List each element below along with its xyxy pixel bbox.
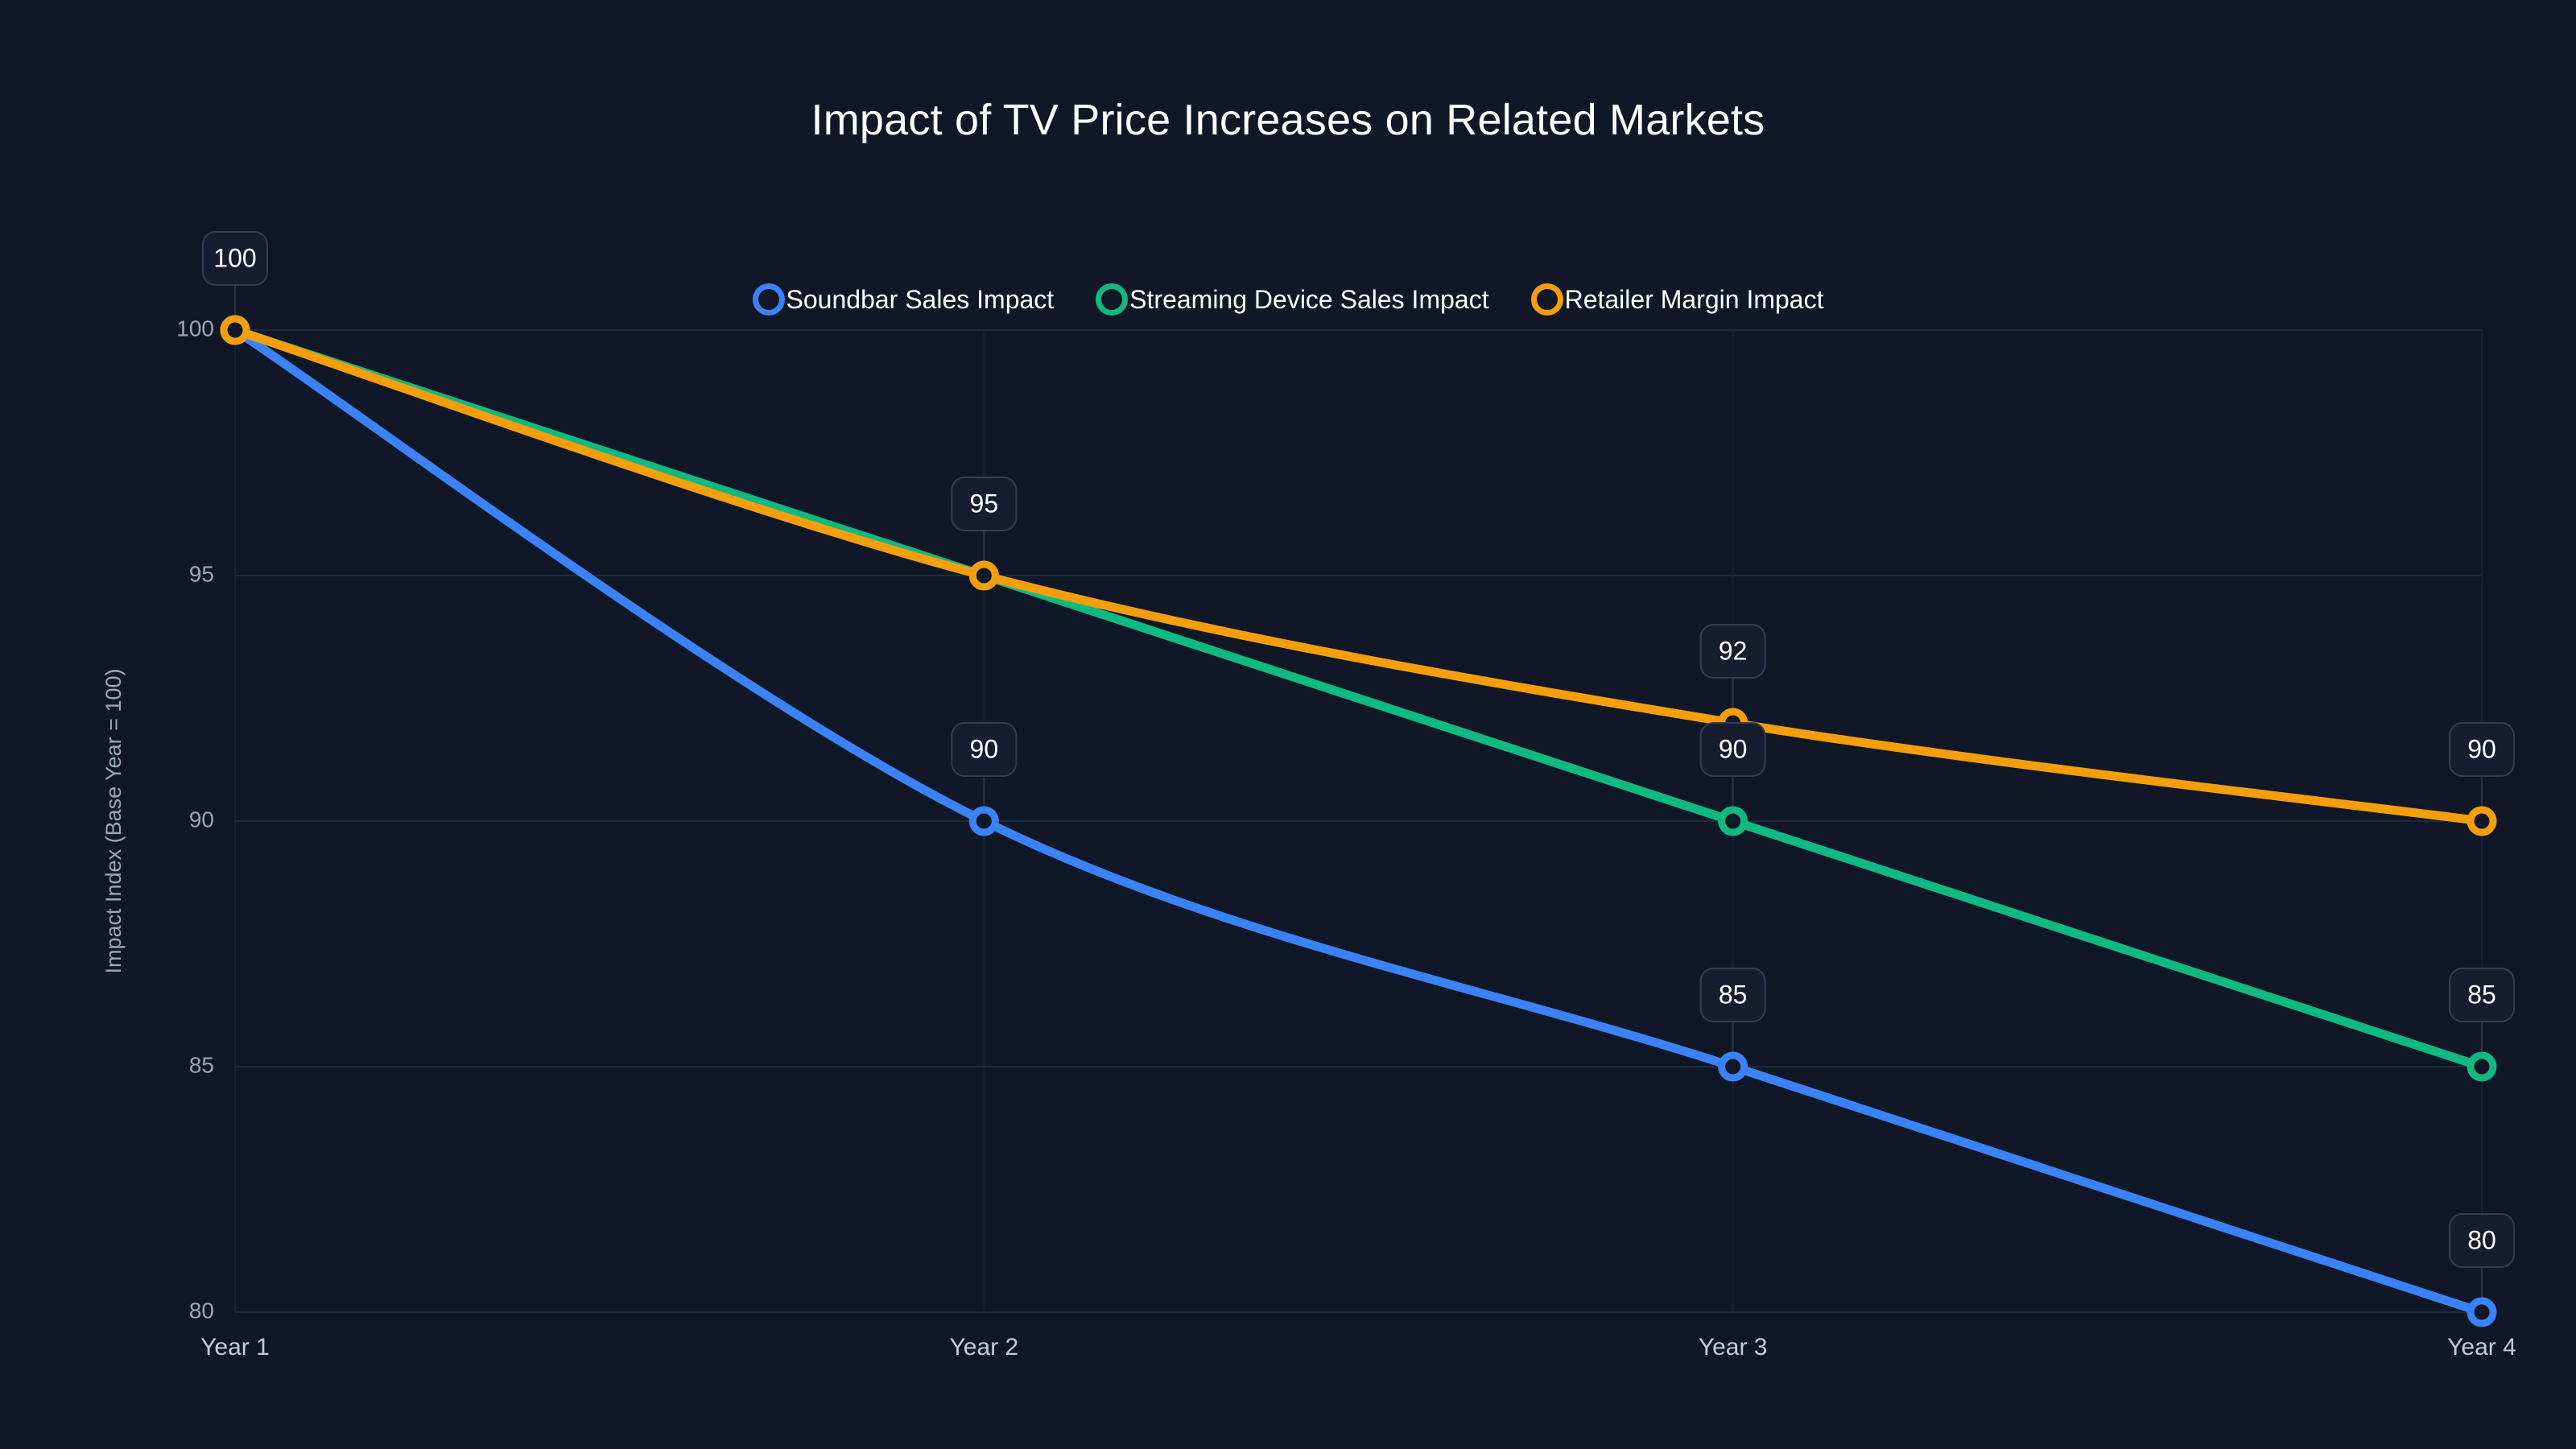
y-tick-label: 85 <box>189 1052 214 1077</box>
series-data-point[interactable] <box>224 319 246 341</box>
data-label: 95 <box>952 477 1016 530</box>
data-label: 80 <box>2450 1214 2514 1267</box>
series-data-point[interactable] <box>972 810 995 832</box>
y-tick-label: 95 <box>189 561 214 586</box>
x-tick-label: Year 3 <box>1699 1334 1768 1360</box>
series-data-point[interactable] <box>2471 1055 2493 1078</box>
y-axis-title: Impact Index (Base Year = 100) <box>101 669 126 974</box>
data-label-text: 95 <box>970 489 999 518</box>
x-axis-ticks: Year 1Year 2Year 3Year 4 <box>200 1334 2516 1360</box>
series-data-point[interactable] <box>1722 1055 1744 1078</box>
y-tick-label: 80 <box>189 1298 214 1323</box>
series-data-point[interactable] <box>2471 810 2493 832</box>
series-data-point[interactable] <box>2471 1301 2493 1323</box>
data-label-text: 90 <box>2467 734 2496 763</box>
x-tick-label: Year 2 <box>950 1334 1019 1360</box>
x-tick-label: Year 1 <box>200 1334 270 1360</box>
data-label: 90 <box>952 723 1016 776</box>
data-label-text: 85 <box>1719 980 1748 1009</box>
series-data-point[interactable] <box>972 564 995 587</box>
data-label: 92 <box>1701 625 1765 678</box>
data-labels: 1009085809590859290 <box>203 232 2514 1267</box>
data-label: 90 <box>2450 723 2514 776</box>
data-label-text: 92 <box>1719 636 1748 665</box>
chart-container: Impact of TV Price Increases on Related … <box>0 0 2576 1449</box>
data-label-text: 100 <box>213 243 256 272</box>
plot-area: 80859095100 Year 1Year 2Year 3Year 4 Imp… <box>0 0 2576 1449</box>
y-axis-ticks: 80859095100 <box>176 316 214 1323</box>
data-label-text: 85 <box>2467 980 2496 1009</box>
data-label: 90 <box>1701 723 1765 776</box>
label-leader-lines <box>235 232 2482 1312</box>
y-axis-title-text: Impact Index (Base Year = 100) <box>101 669 126 974</box>
data-label-text: 90 <box>970 734 999 763</box>
y-gridlines <box>235 330 2482 1312</box>
data-label-text: 80 <box>2467 1225 2496 1254</box>
series-data-point[interactable] <box>1722 810 1744 832</box>
y-tick-label: 90 <box>189 807 214 832</box>
data-label: 85 <box>1701 968 1765 1022</box>
x-tick-label: Year 4 <box>2447 1334 2516 1360</box>
y-tick-label: 100 <box>176 316 214 341</box>
data-label: 85 <box>2450 968 2514 1022</box>
data-label: 100 <box>203 232 267 285</box>
data-label-text: 90 <box>1719 734 1748 763</box>
